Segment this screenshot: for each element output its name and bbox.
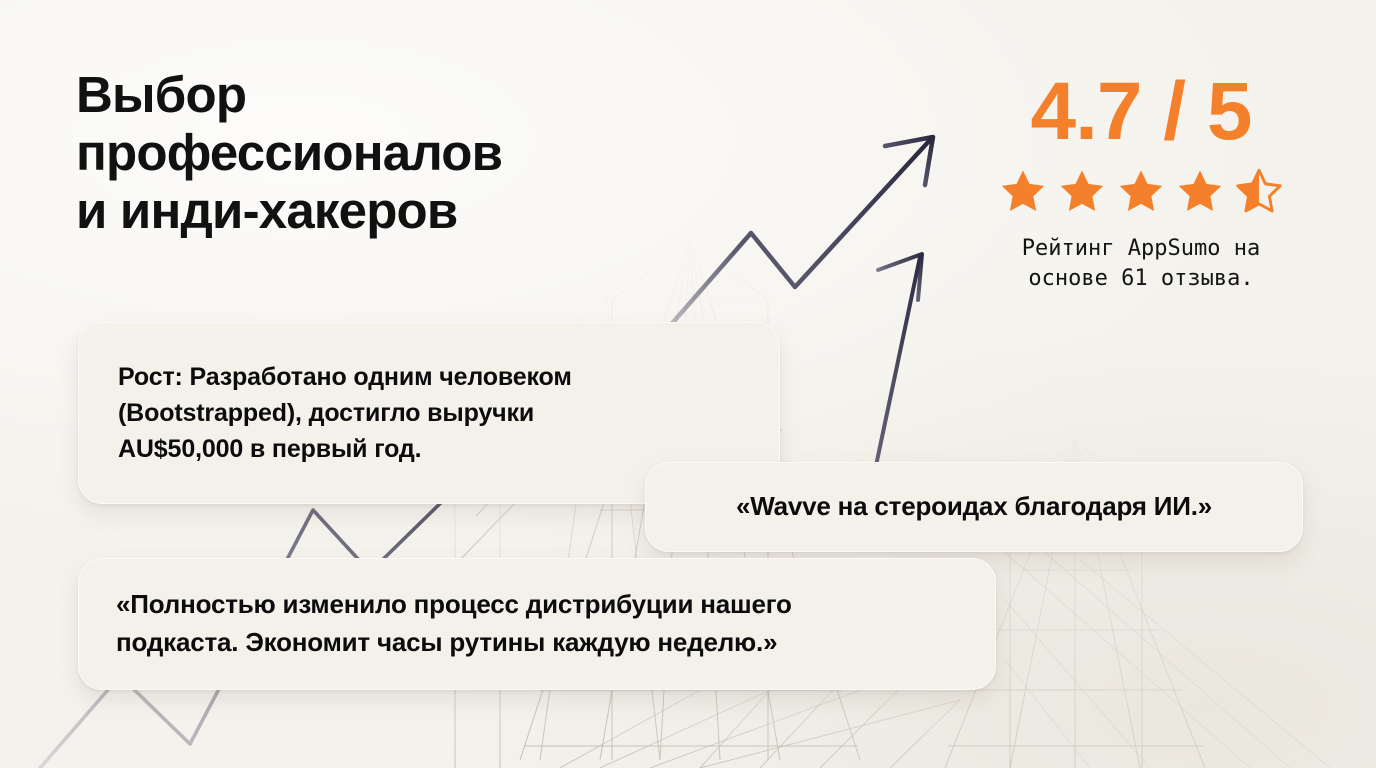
quote-card-podcast: «Полностью изменило процесс дистрибуции …	[78, 558, 996, 690]
quote-card-wavve: «Wavve на стероидах благодаря ИИ.»	[645, 462, 1303, 552]
rating-score: 4.7 / 5	[976, 72, 1306, 152]
growth-card-text: Рост: Разработано одним человеком (Boots…	[118, 359, 572, 467]
quote-card-wavve-text: «Wavve на стероидах благодаря ИИ.»	[736, 490, 1212, 524]
slide-canvas: Выбор профессионалов и инди-хакеров 4.7 …	[0, 0, 1376, 768]
rating-block: 4.7 / 5	[976, 72, 1306, 315]
growth-arrow-primary	[668, 137, 933, 328]
star-icon	[997, 167, 1049, 217]
page-title: Выбор профессионалов и инди-хакеров	[76, 66, 696, 240]
quote-card-podcast-text: «Полностью изменило процесс дистрибуции …	[116, 586, 792, 661]
star-half-icon	[1233, 167, 1285, 217]
star-icon	[1115, 167, 1167, 217]
star-icon	[1174, 167, 1226, 217]
star-icon	[1056, 167, 1108, 217]
wireframe-building-far-right	[1000, 548, 1330, 768]
rating-caption: Рейтинг AppSumo на основе 61 отзыва.	[976, 234, 1306, 293]
star-rating	[976, 167, 1306, 217]
